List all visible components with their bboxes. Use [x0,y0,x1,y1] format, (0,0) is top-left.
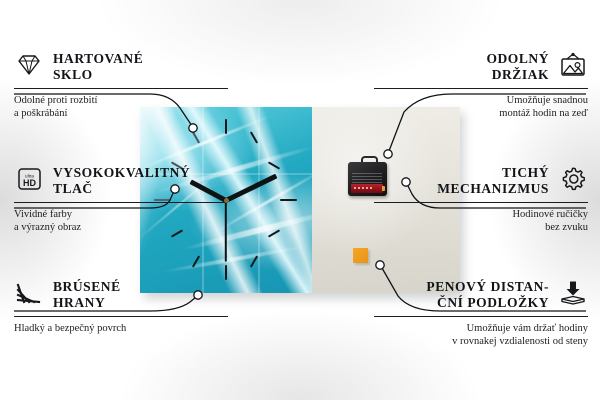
battery-stripe [354,187,374,189]
feature-description: Vividné farby a výrazný obraz [14,208,228,234]
feature-divider [374,316,588,317]
feature-description: Odolné proti rozbití a poškrábání [14,94,228,120]
feature-block-silent-mechanism[interactable]: TICHÝ MECHANIZMUS Hodinové ručičky bez z… [374,164,588,234]
clock-hands-hub [224,198,229,203]
feature-title: ODOLNÝ DRŽIAK [486,50,549,83]
feature-description: Hodinové ručičky bez zvuku [374,208,588,234]
feature-header: PENOVÝ DISTAN- ČNÍ PODLOŽKY [374,278,588,311]
foam-spacer-pad [353,248,368,263]
feature-title: BRÚSENÉ HRANY [53,278,121,311]
feature-block-foam-spacers[interactable]: PENOVÝ DISTAN- ČNÍ PODLOŽKY Umožňuje vám… [374,278,588,348]
svg-text:HD: HD [23,178,36,188]
gear-icon [558,164,588,194]
foam-spacer-icon [558,278,588,308]
feature-description: Umožňuje snadnou montáž hodin na zeď [374,94,588,120]
feature-header: ultra HD VYSOKOKVALITNÝ TLAČ [14,164,228,197]
feature-title: PENOVÝ DISTAN- ČNÍ PODLOŽKY [426,278,549,311]
infographic-canvas: HARTOVANÉ SKLO Odolné proti rozbití a po… [0,0,600,400]
feature-header: ODOLNÝ DRŽIAK [374,50,588,83]
feature-divider [374,202,588,203]
feature-divider [374,88,588,89]
clock-tick-12 [225,119,227,134]
feature-header: BRÚSENÉ HRANY [14,278,228,311]
feature-title: TICHÝ MECHANIZMUS [437,164,549,197]
picture-hanger-icon [558,50,588,80]
clock-tick-3 [280,199,297,201]
feature-header: HARTOVANÉ SKLO [14,50,228,83]
feature-header: TICHÝ MECHANIZMUS [374,164,588,197]
feature-block-hardened-glass[interactable]: HARTOVANÉ SKLO Odolné proti rozbití a po… [14,50,228,120]
feature-description: Hladký a bezpečný povrch [14,322,228,335]
feature-title: VYSOKOKVALITNÝ TLAČ [53,164,190,197]
glass-reflection-seam [258,107,260,293]
feature-block-beveled-edges[interactable]: BRÚSENÉ HRANY Hladký a bezpečný povrch [14,278,228,335]
feature-block-durable-hanger[interactable]: ODOLNÝ DRŽIAK Umožňuje snadnou montáž ho… [374,50,588,120]
feature-description: Umožňuje vám držať hodiny v rovnakej vzd… [374,322,588,348]
ultra-hd-badge-icon: ultra HD [14,164,44,194]
feature-title: HARTOVANÉ SKLO [53,50,143,83]
feature-divider [14,88,228,89]
beveled-edge-icon [14,278,44,308]
feature-divider [14,202,228,203]
diamond-icon [14,50,44,80]
feature-block-high-quality-print[interactable]: ultra HD VYSOKOKVALITNÝ TLAČ Vividné far… [14,164,228,234]
feature-divider [14,316,228,317]
